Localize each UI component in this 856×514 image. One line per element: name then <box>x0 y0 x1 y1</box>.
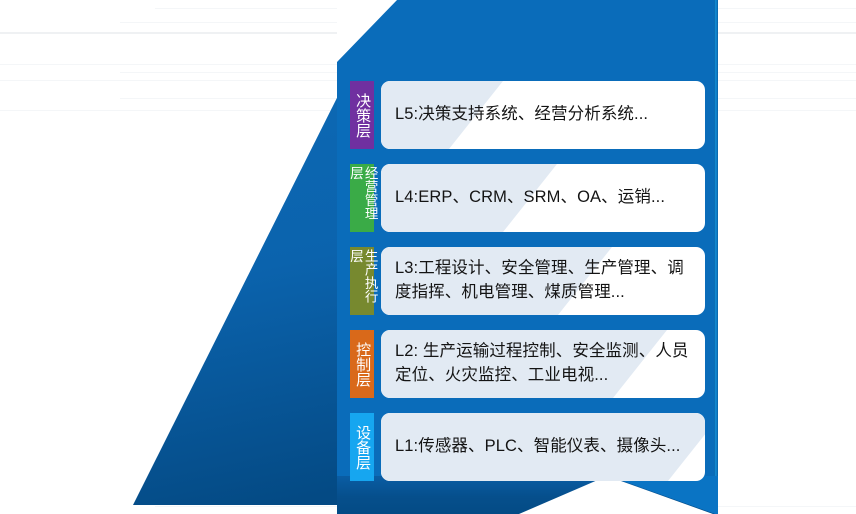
layer-text-l5: L5:决策支持系统、经营分析系统... <box>381 103 662 127</box>
flow-arrow-icon-1 <box>802 150 814 157</box>
layer-card-l3[interactable]: L3:工程设计、安全管理、生产管理、调度指挥、机电管理、煤质管理... <box>381 247 705 315</box>
layer-rows: 决策层 L5:决策支持系统、经营分析系统... 经营管理层 L4:ERP、CRM… <box>337 0 718 514</box>
layer-row-l3[interactable]: 生产执行层 L3:工程设计、安全管理、生产管理、调度指挥、机电管理、煤质管理..… <box>350 247 705 315</box>
layer-card-l2[interactable]: L2: 生产运输过程控制、安全监测、人员定位、火灾监控、工业电视... <box>381 330 705 398</box>
layer-tag-l5: 决策层 <box>350 81 374 149</box>
layer-row-l5[interactable]: 决策层 L5:决策支持系统、经营分析系统... <box>350 81 705 149</box>
layer-row-l1[interactable]: 设备层 L1:传感器、PLC、智能仪表、摄像头... <box>350 413 705 481</box>
layer-tag-l4: 经营管理层 <box>350 164 374 232</box>
layer-text-l2: L2: 生产运输过程控制、安全监测、人员定位、火灾监控、工业电视... <box>381 340 705 388</box>
layer-text-l4: L4:ERP、CRM、SRM、OA、运销... <box>381 186 679 210</box>
layer-card-l5[interactable]: L5:决策支持系统、经营分析系统... <box>381 81 705 149</box>
layer-row-l2[interactable]: 控制层 L2: 生产运输过程控制、安全监测、人员定位、火灾监控、工业电视... <box>350 330 705 398</box>
layer-text-l1: L1:传感器、PLC、智能仪表、摄像头... <box>381 435 695 459</box>
layer-tag-l3: 生产执行层 <box>350 247 374 315</box>
layer-card-l4[interactable]: L4:ERP、CRM、SRM、OA、运销... <box>381 164 705 232</box>
layer-text-l3: L3:工程设计、安全管理、生产管理、调度指挥、机电管理、煤质管理... <box>381 257 705 305</box>
layer-tag-l1: 设备层 <box>350 413 374 481</box>
layer-row-l4[interactable]: 经营管理层 L4:ERP、CRM、SRM、OA、运销... <box>350 164 705 232</box>
layer-tag-l2: 控制层 <box>350 330 374 398</box>
slide-canvas: 决策层 L5:决策支持系统、经营分析系统... 经营管理层 L4:ERP、CRM… <box>0 0 856 514</box>
layer-card-l1[interactable]: L1:传感器、PLC、智能仪表、摄像头... <box>381 413 705 481</box>
